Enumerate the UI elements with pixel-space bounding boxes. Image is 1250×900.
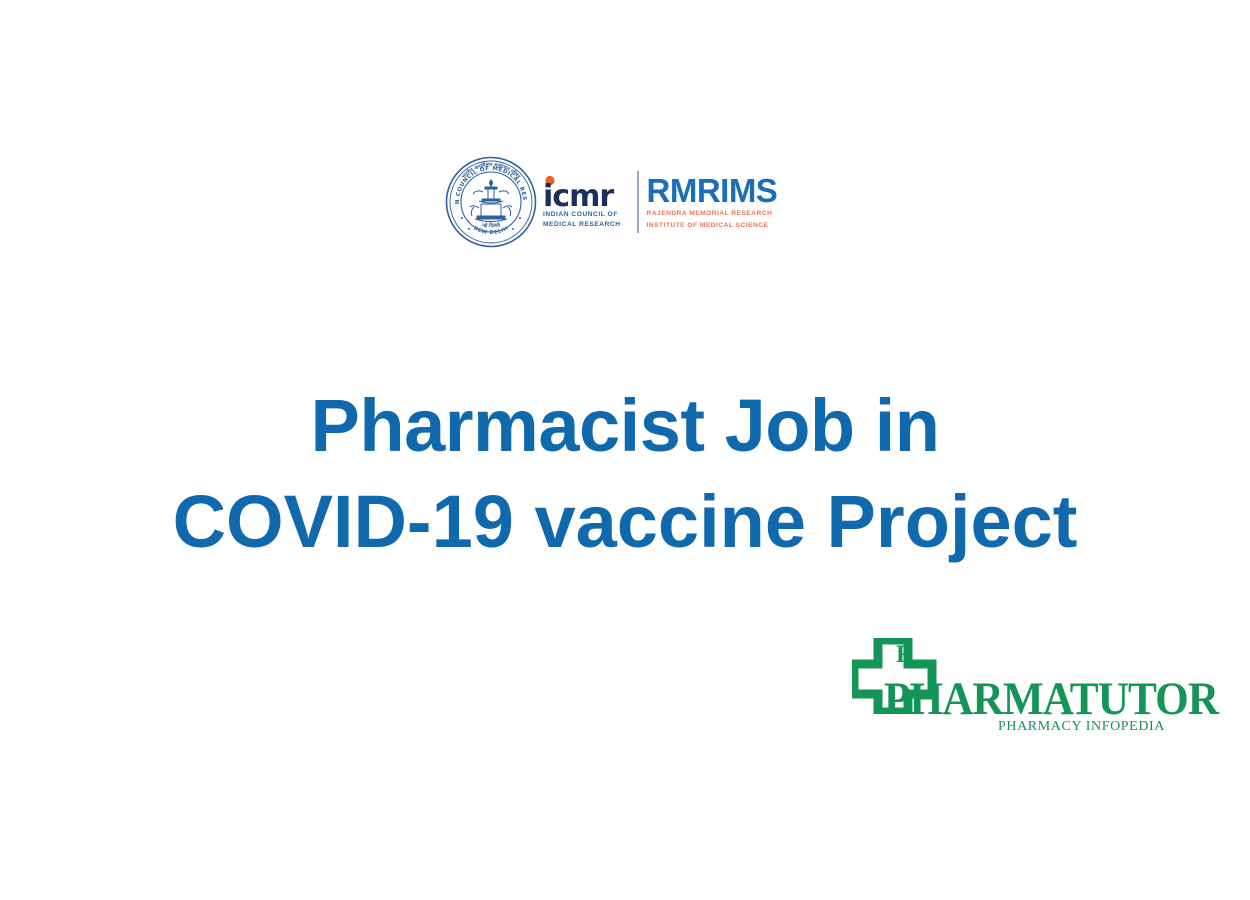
rmrims-subtitle-line2: INSTITUTE OF MEDICAL SCIENCE <box>647 222 778 230</box>
logo-lockup: icmr INDIAN COUNCIL OF MEDICAL RESEARCH … <box>543 169 777 235</box>
rx-symbol-x: x <box>914 656 922 672</box>
pharmatutor-tagline: PHARMACY INFOPEDIA <box>998 720 1165 734</box>
rx-symbol: Rx <box>896 642 922 677</box>
rmrims-wordmark: RMRIMS <box>647 174 778 207</box>
svg-text:नई दिल्ली: नई दिल्ली <box>481 222 501 229</box>
slide-canvas: INDIAN COUNCIL OF MEDICAL RESEARCH भारती… <box>0 0 1250 900</box>
pharmatutor-wordmark: PHARMATUTOR <box>884 676 1218 723</box>
svg-text:icmr: icmr <box>543 179 614 209</box>
logo-divider <box>637 171 639 233</box>
rmrims-block: RMRIMS RAJENDRA MEMORIAL RESEARCH INSTIT… <box>647 169 778 235</box>
title-line-2: COVID-19 vaccine Project <box>0 474 1250 570</box>
pharmatutor-logo: Rx PHARMATUTOR PHARMACY INFOPEDIA <box>852 636 1130 736</box>
slide-title: Pharmacist Job in COVID-19 vaccine Proje… <box>0 378 1250 570</box>
svg-text:INDIAN COUNCIL OF MEDICAL RESE: INDIAN COUNCIL OF MEDICAL RESEARCH <box>445 156 527 204</box>
icmr-subtitle-line1: INDIAN COUNCIL OF <box>543 211 629 219</box>
icmr-rmrims-logo: INDIAN COUNCIL OF MEDICAL RESEARCH भारती… <box>445 152 775 252</box>
icmr-circular-emblem-icon: INDIAN COUNCIL OF MEDICAL RESEARCH भारती… <box>445 156 537 248</box>
rmrims-subtitle-line1: RAJENDRA MEMORIAL RESEARCH <box>647 210 778 218</box>
icmr-wordmark: icmr <box>543 175 629 209</box>
title-line-1: Pharmacist Job in <box>0 378 1250 474</box>
icmr-subtitle-line2: MEDICAL RESEARCH <box>543 221 629 229</box>
rx-symbol-r: R <box>896 641 914 668</box>
icmr-block: icmr INDIAN COUNCIL OF MEDICAL RESEARCH <box>543 169 637 235</box>
